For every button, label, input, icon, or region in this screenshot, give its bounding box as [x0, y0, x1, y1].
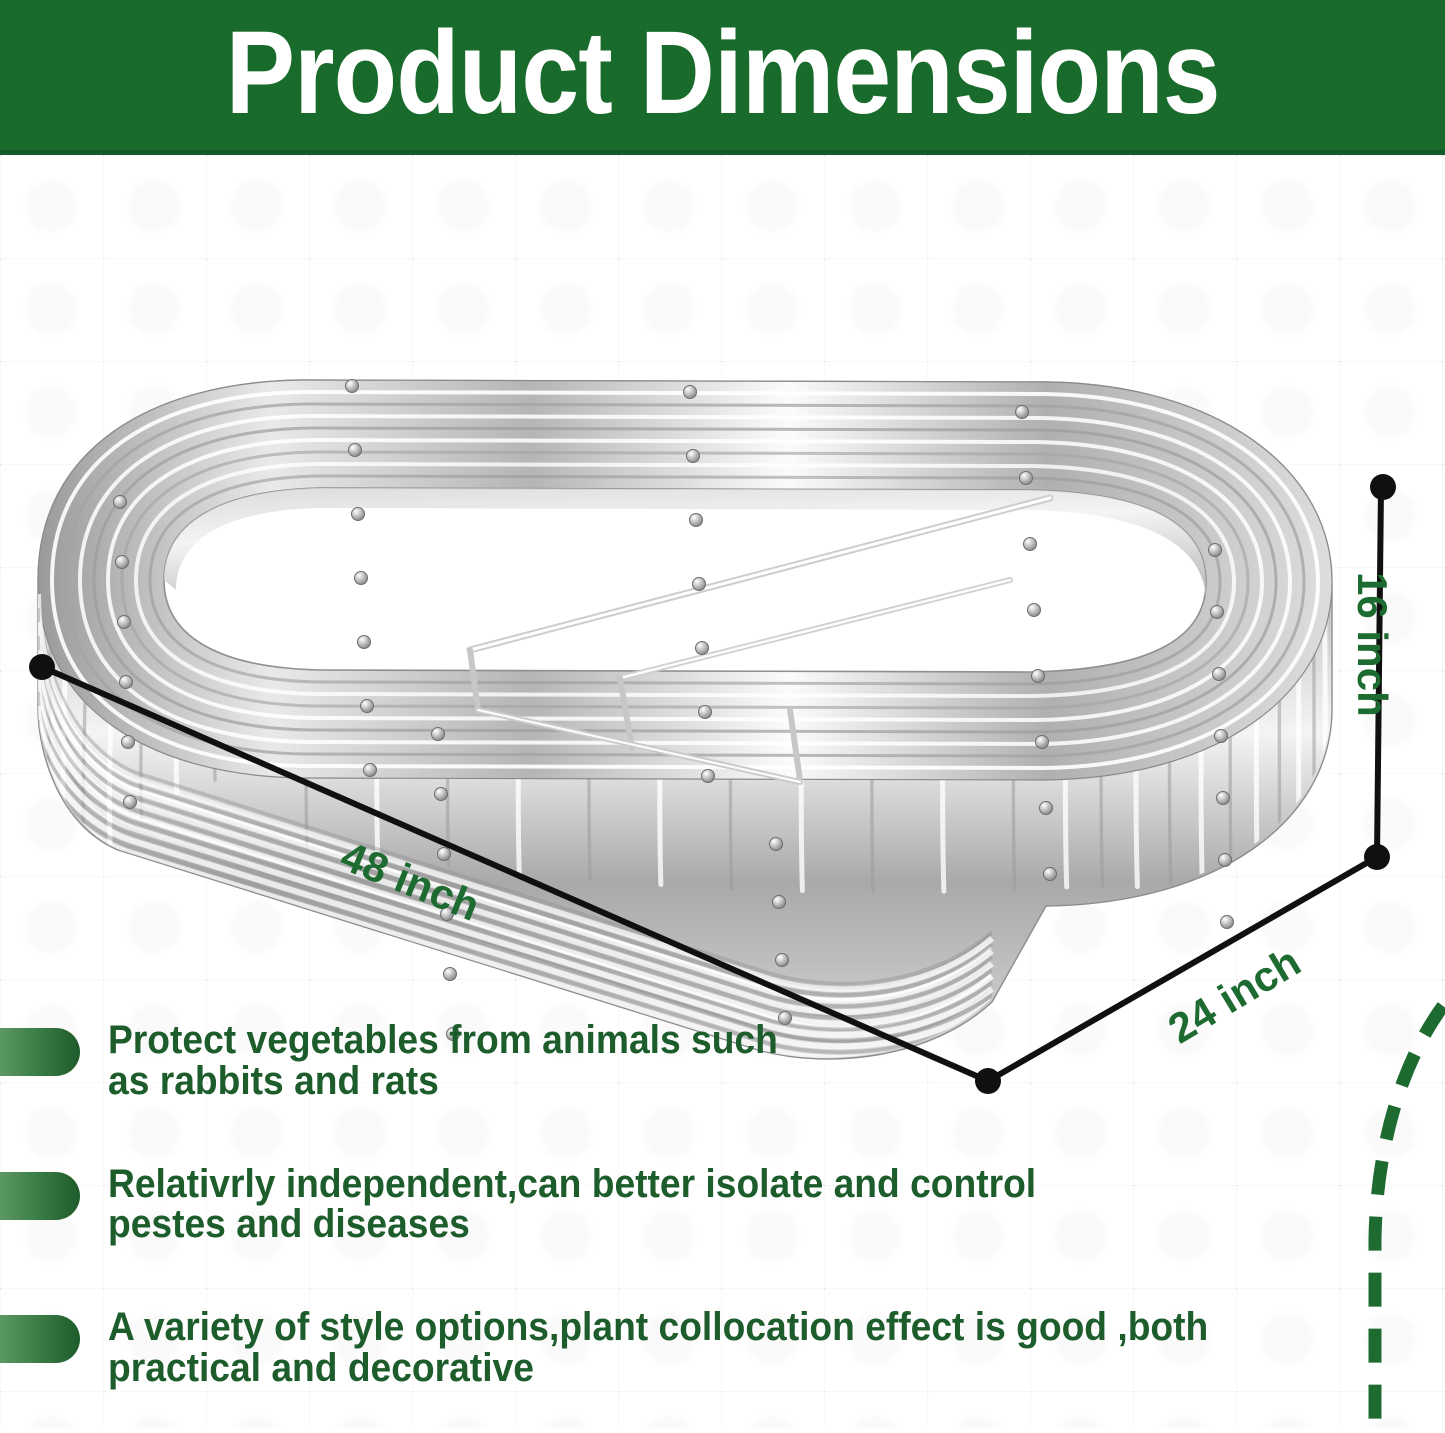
feature-style-options: A variety of style options,plant colloca… [0, 1307, 1445, 1389]
feature-list: Protect vegetables from animals such as … [0, 1020, 1445, 1389]
header-banner: Product Dimensions [0, 0, 1445, 155]
bullet-marker-icon [0, 1172, 80, 1220]
feature-text: Relativrly independent,can better isolat… [108, 1164, 1036, 1246]
product-illustration [0, 150, 1445, 1110]
feature-text: Protect vegetables from animals such as … [108, 1020, 778, 1102]
page-title: Product Dimensions [226, 14, 1220, 142]
bullet-marker-icon [0, 1315, 80, 1363]
bullet-marker-icon [0, 1028, 80, 1076]
feature-independent-isolation: Relativrly independent,can better isolat… [0, 1164, 1445, 1246]
feature-text: A variety of style options,plant colloca… [108, 1307, 1208, 1389]
bed-top-rim [38, 380, 1332, 780]
feature-protect-vegetables: Protect vegetables from animals such as … [0, 1020, 1445, 1102]
